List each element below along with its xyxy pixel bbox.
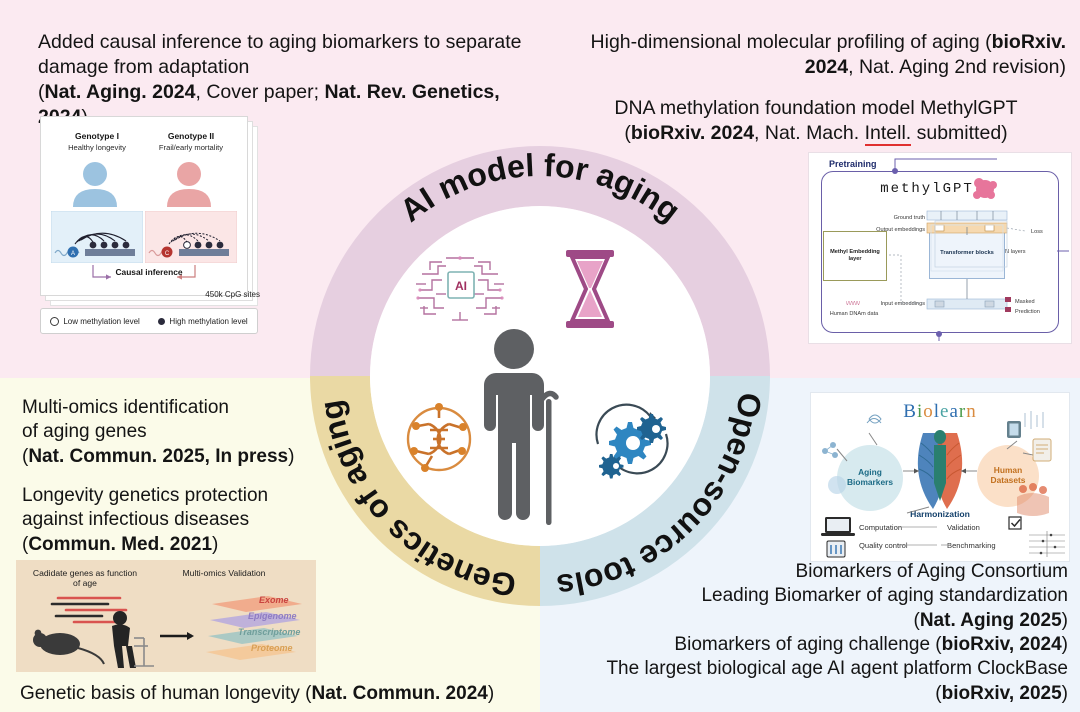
high-methylation-dot-icon [158, 318, 165, 325]
gears-cycle-icon [588, 398, 678, 480]
genotype2-person-icon [153, 161, 225, 207]
figure-canvas: AI model for aging Genetics of aging Ope… [0, 0, 1080, 712]
text-block-molecular-profiling: High-dimensional molecular profiling of … [566, 30, 1066, 80]
tr-line2: 2024, Nat. Aging 2nd revision) [566, 55, 1066, 80]
text-block-causal-inference: Added causal inference to aging biomarke… [38, 30, 538, 130]
ml-line1: Multi-omics identification [22, 396, 322, 420]
genotype2-column: Genotype II Frail/early mortality [145, 131, 237, 152]
text-block-methylgpt: DNA methylation foundation model MethylG… [566, 96, 1066, 146]
allele1-label: A [71, 251, 75, 257]
tl-line1: Added causal inference to aging biomarke… [38, 30, 538, 55]
ai-chip-label: AI [455, 279, 467, 293]
methylgpt-diagram-lines: \/\/\/\/\/ [809, 153, 1071, 343]
br-line3: (Nat. Aging 2025) [600, 609, 1068, 633]
causal-inference-caption: Causal inference [41, 267, 257, 277]
inset-causal-inference: Genotype I Healthy longevity Genotype II… [34, 116, 266, 342]
inset-methylgpt: Pretraining methylGPT Ground truth Outpu… [808, 152, 1072, 344]
genotype1-methylation-panel: A [51, 211, 143, 263]
spellcheck-underline: Intell. [865, 122, 912, 146]
genotype1-column: Genotype I Healthy longevity [51, 131, 143, 152]
genotype1-person-icon [59, 161, 131, 207]
omics-label-epigenome: Epigenome [248, 611, 297, 621]
text-block-genetic-basis: Genetic basis of human longevity (Nat. C… [20, 682, 540, 706]
omics-label-exome: Exome [259, 595, 289, 605]
omics-label-transcriptome: Transcriptome [238, 627, 300, 637]
legend-low-methylation: Low methylation level [50, 317, 139, 326]
inset-multiomics: Cadidate genes as function of age Multi-… [16, 560, 316, 672]
genotype2-methylation-panel: C [145, 211, 237, 263]
methylation-legend: Low methylation level High methylation l… [40, 308, 258, 334]
legend-high-methylation: High methylation level [158, 317, 247, 326]
ai-brain-chip-icon: AI [412, 250, 508, 328]
ml2-line2: against infectious diseases [22, 508, 322, 532]
br-line6: (bioRxiv, 2025) [600, 682, 1068, 706]
br-line1: Biomarkers of Aging Consortium [600, 560, 1068, 584]
tr2-line2: (bioRxiv. 2024, Nat. Mach. Intell. submi… [566, 121, 1066, 146]
ml-line3: (Nat. Commun. 2025, In press) [22, 445, 322, 469]
svg-text:\/\/\/\/\/: \/\/\/\/\/ [846, 301, 861, 307]
br-line2: Leading Biomarker of aging standardizati… [600, 584, 1068, 608]
genotype2-title: Genotype II [145, 131, 237, 141]
dna-network-icon [396, 396, 482, 482]
hourglass-icon [562, 248, 618, 330]
ml-line2: of aging genes [22, 420, 322, 444]
text-block-multiomics-genes: Multi-omics identification of aging gene… [22, 396, 322, 469]
ml2-line3: (Commun. Med. 2021) [22, 533, 322, 557]
genotype1-sub: Healthy longevity [51, 143, 143, 152]
tr-line1: High-dimensional molecular profiling of … [566, 30, 1066, 55]
br-line4: Biomarkers of aging challenge (bioRxiv, … [600, 633, 1068, 657]
br-line5: The largest biological age AI agent plat… [600, 657, 1068, 681]
allele2-label: C [165, 251, 170, 257]
tl-line2: damage from adaptation [38, 55, 538, 80]
causal-card-stack: Genotype I Healthy longevity Genotype II… [40, 116, 258, 302]
low-methylation-dot-icon [50, 317, 59, 326]
causal-card-front: Genotype I Healthy longevity Genotype II… [40, 116, 248, 296]
tr2-line1: DNA methylation foundation model MethylG… [566, 96, 1066, 121]
cpg-sites-note: 450k CpG sites [205, 290, 260, 299]
omics-label-proteome: Proteome [251, 643, 293, 653]
elderly-person-icon [474, 327, 566, 527]
inset-biolearn: Biolearn Aging Biomarkers Human Datasets… [810, 392, 1070, 562]
ml2-line1: Longevity genetics protection [22, 484, 322, 508]
genotype1-title: Genotype I [51, 131, 143, 141]
genotype2-sub: Frail/early mortality [145, 143, 237, 152]
text-block-longevity-genetics: Longevity genetics protection against in… [22, 484, 322, 557]
text-block-biomarkers-consortium: Biomarkers of Aging Consortium Leading B… [600, 560, 1068, 706]
biolearn-diagram [811, 393, 1069, 561]
